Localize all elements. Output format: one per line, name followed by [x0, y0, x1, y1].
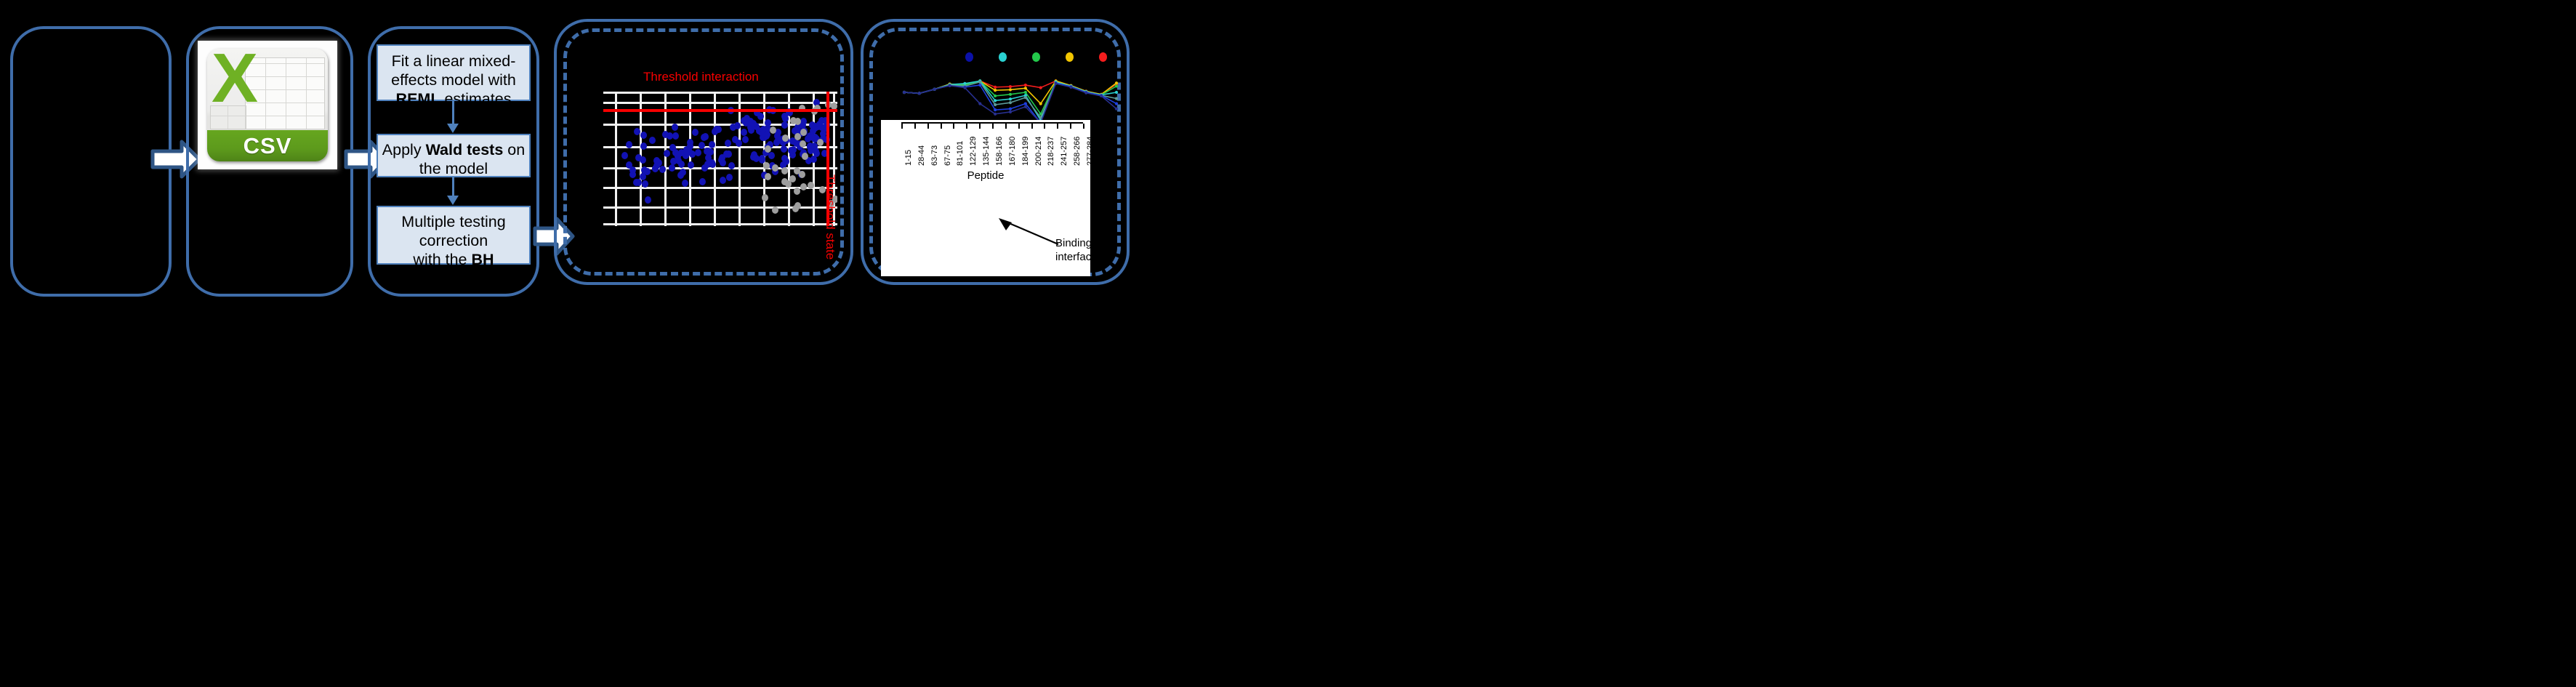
peptide-series-marker	[1115, 97, 1118, 100]
peptide-axis-label: 1-15	[904, 150, 913, 166]
scatter-point-non-significant	[800, 129, 807, 136]
scatter-point-significant	[709, 141, 715, 148]
peptide-ytick-label: 0.0	[882, 120, 898, 122]
peptide-axis-tick	[1083, 124, 1084, 129]
scatter-point-significant	[732, 136, 738, 143]
flow-connector-1	[452, 101, 454, 125]
legend-dot-series-2	[999, 52, 1007, 62]
scatter-point-significant	[664, 150, 670, 157]
scatter-point-significant	[813, 148, 819, 155]
scatter-point-significant	[682, 180, 688, 187]
scatter-point-non-significant	[794, 188, 800, 195]
scatter-point-significant	[662, 131, 669, 138]
peptide-axis-label: 258-266	[1073, 137, 1082, 166]
grid-line-h	[603, 102, 837, 104]
peptide-axis-label: 81-101	[956, 141, 965, 166]
scatter-point-significant	[788, 147, 794, 154]
grid-line-h	[603, 206, 837, 209]
peptide-series-marker	[994, 103, 997, 106]
scatter-point-significant	[672, 132, 679, 140]
flow-box-3-line1: Multiple testing	[401, 213, 505, 230]
flow-connector-2	[452, 177, 454, 197]
peptide-series-marker	[1039, 103, 1042, 105]
peptide-series-marker	[994, 95, 997, 97]
scatter-point-significant	[759, 155, 765, 162]
peptide-series-marker	[994, 108, 997, 111]
peptide-series-marker	[978, 81, 981, 84]
scatter-point-significant	[652, 165, 659, 172]
scatter-plot	[603, 92, 837, 226]
binding-label-line1: Binding	[1055, 237, 1092, 249]
scatter-point-significant	[688, 161, 694, 169]
peptide-series-marker	[1024, 91, 1027, 94]
peptide-series-marker	[1024, 105, 1027, 108]
peptide-axis-label: 67-75	[943, 145, 952, 166]
peptide-series-marker	[994, 99, 997, 102]
flow-box-3-post2: procedure	[419, 270, 489, 287]
scatter-point-significant	[669, 164, 675, 172]
scatter-point-significant	[635, 179, 642, 186]
threshold-state-label: Threshold state	[823, 174, 837, 260]
peptide-axis-label: 277-284	[1086, 137, 1090, 166]
scatter-point-significant	[725, 150, 732, 158]
scatter-point-non-significant	[762, 194, 768, 201]
scatter-point-significant	[701, 134, 707, 141]
scatter-point-significant	[768, 152, 775, 159]
legend-dot-series-1	[965, 52, 973, 62]
scatter-point-significant	[692, 129, 699, 136]
peptide-line-chart	[901, 51, 1119, 127]
scatter-point-significant	[672, 124, 678, 131]
flow-box-1-line3: estimates	[440, 90, 511, 108]
peptide-axis-label: 63-73	[930, 145, 939, 166]
flow-box-1-line1: Fit a linear mixed-	[392, 52, 516, 70]
csv-file-icon: X CSV	[198, 41, 337, 169]
peptide-series-marker	[1115, 91, 1118, 94]
scatter-point-significant	[677, 172, 684, 179]
scatter-point-significant	[640, 142, 647, 150]
peptide-series-marker	[1084, 92, 1087, 95]
peptide-series-marker	[918, 92, 921, 95]
scatter-point-non-significant	[794, 202, 801, 209]
input-panel	[10, 26, 172, 297]
scatter-point-non-significant	[782, 134, 789, 142]
peptide-axis-label: 218-237	[1047, 137, 1055, 166]
peptide-axis-label: 200-214	[1034, 137, 1043, 166]
peptide-series-marker	[948, 84, 951, 87]
scatter-point-significant	[644, 168, 651, 175]
legend-dot-series-5	[1099, 52, 1107, 62]
peptide-series-marker	[903, 91, 906, 94]
flow-box-1-line2: effects model with	[391, 71, 516, 89]
peptide-axis-label: 135-144	[982, 137, 991, 166]
peptide-series-marker	[994, 89, 997, 92]
peptide-chart-legend	[901, 51, 1119, 67]
scatter-point-significant	[781, 145, 787, 153]
scatter-point-non-significant	[772, 206, 778, 214]
scatter-point-significant	[640, 132, 647, 139]
legend-dot-series-3	[1032, 52, 1040, 62]
scatter-point-significant	[781, 121, 788, 129]
flow-box-1-bold: REML	[396, 90, 440, 108]
flow-box-2-bold: Wald tests	[426, 141, 504, 158]
binding-interface-label: Binding interface	[1055, 236, 1098, 264]
scatter-point-significant	[816, 121, 823, 128]
scatter-point-significant	[699, 142, 705, 149]
scatter-point-significant	[640, 156, 646, 164]
peptide-series-marker	[963, 86, 966, 89]
scatter-point-significant	[713, 126, 720, 133]
peptide-series-marker	[1069, 86, 1072, 89]
legend-dot-series-4	[1066, 52, 1074, 62]
scatter-point-significant	[645, 196, 651, 204]
peptide-series-marker	[978, 84, 981, 87]
scatter-point-significant	[807, 143, 813, 150]
flow-box-3-pre2: with the	[413, 251, 471, 268]
scatter-point-significant	[695, 149, 701, 156]
scatter-point-non-significant	[765, 145, 771, 153]
flow-box-wald-tests: Apply Wald tests on the model parameters	[377, 134, 531, 177]
flow-box-3-bold2: BH	[472, 251, 494, 268]
csv-tile: X CSV	[207, 49, 328, 161]
scatter-point-significant	[741, 129, 747, 136]
scatter-point-non-significant	[800, 183, 807, 190]
peptide-series-marker	[994, 86, 997, 89]
peptide-series-marker	[994, 113, 997, 116]
csv-band-label: CSV	[207, 130, 328, 161]
threshold-interaction-line	[603, 109, 837, 112]
peptide-series-marker	[1039, 86, 1042, 89]
scatter-point-significant	[750, 120, 757, 127]
peptide-series-marker	[1054, 82, 1057, 85]
scatter-point-significant	[720, 159, 726, 166]
scatter-point-non-significant	[817, 139, 824, 146]
peptide-series-marker	[978, 103, 981, 105]
peptide-series-marker	[1115, 108, 1118, 111]
scatter-point-significant	[742, 136, 749, 143]
grid-line-h	[603, 167, 837, 169]
scatter-point-significant	[701, 164, 708, 172]
scatter-point-non-significant	[763, 162, 770, 169]
excel-x-glyph: X	[212, 56, 257, 105]
grid-line-h	[603, 223, 837, 225]
grid-line-h	[603, 92, 837, 94]
peptide-axis-label: 241-257	[1060, 137, 1068, 166]
peptide-axis-label: 28-44	[917, 145, 926, 166]
peptide-series-marker	[1009, 93, 1012, 96]
flow-box-bh-correction: Multiple testing correction with the BH …	[377, 206, 531, 265]
peptide-series-marker	[1115, 81, 1118, 84]
scatter-point-significant	[720, 177, 726, 184]
scatter-point-significant	[726, 174, 733, 181]
peptide-series-marker	[1009, 85, 1012, 88]
peptide-series-marker	[1024, 87, 1027, 89]
scatter-point-significant	[649, 137, 656, 144]
peptide-series-marker	[1024, 84, 1027, 87]
scatter-point-significant	[781, 155, 788, 162]
peptide-series-marker	[1115, 103, 1118, 105]
binding-label-line2: interface	[1055, 251, 1098, 263]
scatter-point-significant	[744, 115, 750, 122]
flow-arrowhead-2	[447, 196, 459, 205]
peptide-axis-label: 167-180	[1008, 137, 1017, 166]
scatter-point-non-significant	[799, 171, 805, 178]
threshold-interaction-label: Threshold interaction	[643, 70, 759, 84]
peptide-series-marker	[1100, 95, 1103, 97]
flow-box-2-pre: Apply	[382, 141, 426, 158]
scatter-point-significant	[699, 178, 706, 185]
peptide-series-marker	[1009, 108, 1012, 111]
peptide-axis-label: 122-129	[969, 137, 978, 166]
peptide-series-marker	[1009, 101, 1012, 104]
flow-box-3-line2: correction	[419, 232, 488, 249]
scatter-point-significant	[734, 122, 741, 129]
peptide-series-marker	[1024, 103, 1027, 105]
flow-arrowhead-1	[447, 124, 459, 133]
peptide-axis-title: Peptide	[881, 169, 1090, 182]
flow-box-2-post: on	[503, 141, 525, 158]
peptide-series-marker	[1009, 88, 1012, 91]
scatter-point-non-significant	[765, 173, 771, 180]
scatter-point-non-significant	[794, 133, 801, 140]
scatter-point-significant	[659, 166, 666, 173]
peptide-axis-labels: 1-1528-4463-7367-7581-101122-129135-1441…	[901, 128, 1083, 168]
peptide-series-marker	[1009, 97, 1012, 100]
peptide-series-svg	[901, 67, 1119, 127]
scatter-point-non-significant	[781, 167, 788, 174]
peptide-axis-label: 158-166	[995, 137, 1004, 166]
peptide-series-marker	[1115, 84, 1118, 87]
scatter-point-significant	[621, 152, 628, 159]
flow-box-fit-model: Fit a linear mixed- effects model with R…	[377, 44, 531, 101]
peptide-series-marker	[933, 88, 936, 91]
peptide-series-marker	[1024, 96, 1027, 99]
binding-interface-arrow	[996, 218, 1061, 247]
peptide-axis-label: 184-199	[1021, 137, 1030, 166]
peptide-series-marker	[1009, 111, 1012, 113]
scatter-point-significant	[728, 162, 735, 169]
scatter-point-significant	[670, 158, 677, 165]
